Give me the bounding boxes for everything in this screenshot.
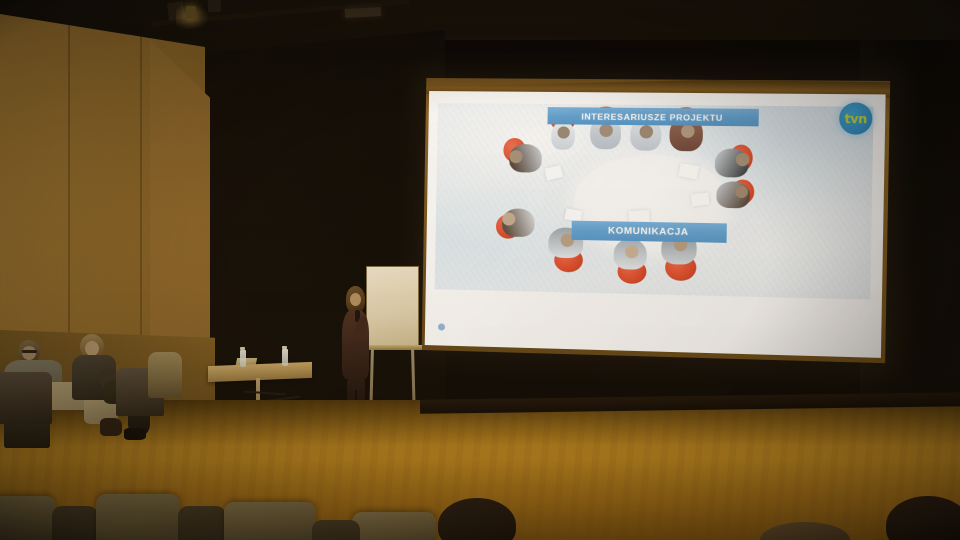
eyeglasses-icon [22,350,37,353]
presentation-room-photo: INTERESARIUSZE PROJEKTU KOMUNIKACJA CEL … [0,0,960,540]
slide-banner-stakeholders: INTERESARIUSZE PROJEKTU [547,107,758,126]
empty-chair [52,506,98,540]
tvn-logo-text: tvn [844,111,867,126]
slide-surface: INTERESARIUSZE PROJEKTU KOMUNIKACJA CEL … [425,91,886,358]
wall-seam [68,14,70,380]
slide-banner-communication: KOMUNIKACJA [571,221,726,243]
slide-photo-meeting: INTERESARIUSZE PROJEKTU KOMUNIKACJA CEL [435,103,874,299]
presenter-face [350,293,361,306]
projection-screen: INTERESARIUSZE PROJEKTU KOMUNIKACJA CEL … [422,78,891,363]
water-bottle [240,350,246,367]
empty-chair [312,520,360,540]
water-bottle [282,349,288,366]
wall-panel-step [150,40,210,380]
auditorium-seat [0,372,52,424]
slide-page-marker-dot [438,323,445,330]
audience-boot-heel [124,428,146,440]
empty-chair [352,512,436,540]
audience-shoe [100,418,122,436]
empty-chair [224,502,316,540]
bottle-cap [282,346,287,349]
wall-seam [140,14,142,380]
auditorium-seat [148,352,182,398]
ceiling-spotlight-icon [208,0,221,12]
empty-chair [96,494,180,540]
empty-chair [178,506,226,540]
bottle-cap [240,347,245,350]
ceiling-vent [345,7,381,18]
document-sheet [691,192,710,206]
ceiling-spotlight-lit-icon [186,6,196,19]
empty-chair [0,496,56,540]
